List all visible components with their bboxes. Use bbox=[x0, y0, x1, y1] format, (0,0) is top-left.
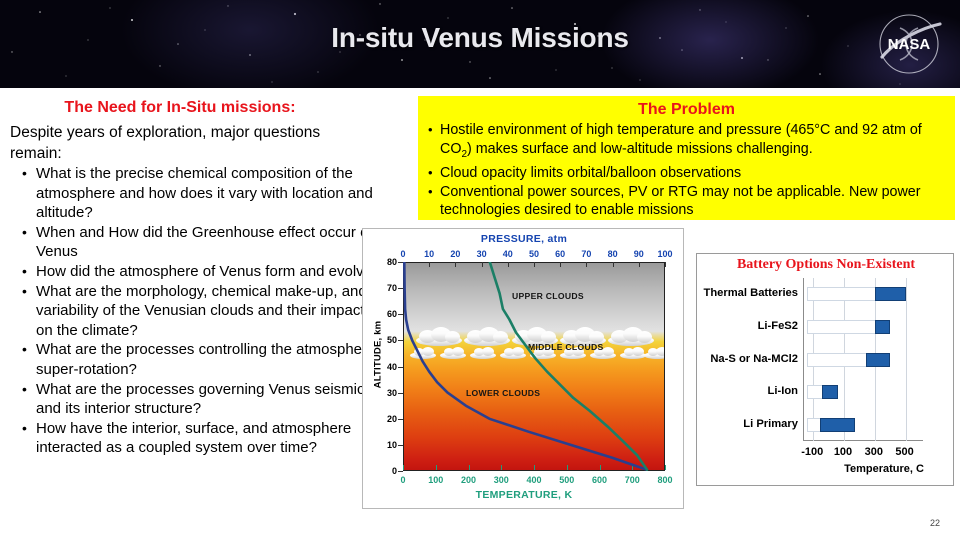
battery-category-label: Thermal Batteries bbox=[703, 287, 798, 299]
battery-chart-title: Battery Options Non-Existent bbox=[697, 257, 955, 273]
pressure-tick-label: 50 bbox=[524, 249, 544, 259]
pressure-tick-label: 40 bbox=[498, 249, 518, 259]
pressure-tick-label: 10 bbox=[419, 249, 439, 259]
pressure-tick-label: 70 bbox=[576, 249, 596, 259]
battery-bar bbox=[875, 320, 890, 334]
battery-category-label: Li-FeS2 bbox=[758, 320, 798, 332]
battery-options-chart: Battery Options Non-Existent Thermal Bat… bbox=[696, 253, 954, 486]
problem-bullet-item: Cloud opacity limits orbital/balloon obs… bbox=[440, 164, 949, 183]
problem-callout-box: The Problem Hostile environment of high … bbox=[418, 96, 955, 220]
need-bullet-item: When and How did the Greenhouse effect o… bbox=[36, 223, 384, 262]
need-bullet-item: What is the precise chemical composition… bbox=[36, 164, 384, 223]
need-bullet-item: How did the atmosphere of Venus form and… bbox=[36, 262, 384, 282]
temperature-tick-label: 0 bbox=[391, 475, 415, 485]
problem-heading: The Problem bbox=[418, 96, 955, 119]
pressure-tick-label: 100 bbox=[655, 249, 675, 259]
page-number: 22 bbox=[930, 518, 940, 528]
altitude-tick-label: 20 bbox=[377, 414, 397, 424]
need-bullet-item: How have the interior, surface, and atmo… bbox=[36, 419, 384, 458]
temperature-tick-label: 100 bbox=[424, 475, 448, 485]
pressure-axis-title: PRESSURE, atm bbox=[363, 233, 685, 245]
battery-category-label: Na-S or Na-MCl2 bbox=[710, 353, 798, 365]
pressure-tick-label: 20 bbox=[445, 249, 465, 259]
battery-bar bbox=[875, 287, 906, 301]
battery-tick-label: 500 bbox=[885, 446, 925, 458]
need-bullet-item: What are the morphology, chemical make-u… bbox=[36, 282, 384, 341]
nasa-logo-icon: NASA bbox=[870, 10, 948, 78]
problem-bullet-item: Hostile environment of high temperature … bbox=[440, 121, 949, 164]
battery-category-label: Li-Ion bbox=[768, 385, 798, 397]
altitude-tick-label: 60 bbox=[377, 309, 397, 319]
altitude-tick-label: 50 bbox=[377, 335, 397, 345]
altitude-tick-label: 70 bbox=[377, 283, 397, 293]
pressure-tick-label: 60 bbox=[550, 249, 570, 259]
page-title: In-situ Venus Missions bbox=[0, 22, 960, 54]
temperature-tick-label: 200 bbox=[457, 475, 481, 485]
temperature-tick-label: 800 bbox=[653, 475, 677, 485]
battery-bar bbox=[822, 385, 837, 399]
profile-curves bbox=[403, 262, 665, 471]
altitude-tick-label: 40 bbox=[377, 362, 397, 372]
problem-bullet-list: Hostile environment of high temperature … bbox=[418, 121, 955, 220]
need-section-heading: The Need for In-Situ missions: bbox=[10, 99, 350, 117]
altitude-tick-label: 10 bbox=[377, 440, 397, 450]
pressure-tick-label: 30 bbox=[472, 249, 492, 259]
battery-plot-area: Thermal BatteriesLi-FeS2Na-S or Na-MCl2L… bbox=[803, 278, 923, 441]
battery-bar bbox=[820, 418, 855, 432]
need-bullet-list: What is the precise chemical composition… bbox=[14, 164, 384, 458]
slide-header: In-situ Venus Missions NASA bbox=[0, 0, 960, 88]
need-bullet-item: What are the processes controlling the a… bbox=[36, 340, 384, 379]
altitude-tick-label: 30 bbox=[377, 388, 397, 398]
altitude-tick-label: 80 bbox=[377, 257, 397, 267]
temperature-tick-label: 400 bbox=[522, 475, 546, 485]
temperature-tick-label: 300 bbox=[489, 475, 513, 485]
nasa-wordmark: NASA bbox=[888, 36, 931, 53]
pressure-curve bbox=[404, 262, 646, 470]
temperature-tick-label: 500 bbox=[555, 475, 579, 485]
need-bullet-item: What are the processes governing Venus s… bbox=[36, 380, 384, 419]
temperature-axis-title: TEMPERATURE, K bbox=[363, 489, 685, 501]
temperature-curve bbox=[490, 262, 647, 470]
battery-category-label: Li Primary bbox=[743, 418, 798, 430]
problem-bullet-item: Conventional power sources, PV or RTG ma… bbox=[440, 183, 949, 220]
battery-gridline bbox=[906, 278, 907, 441]
battery-bar bbox=[866, 353, 891, 367]
need-section-intro: Despite years of exploration, major ques… bbox=[10, 122, 360, 164]
temperature-tick-label: 700 bbox=[620, 475, 644, 485]
temperature-tick-label: 600 bbox=[588, 475, 612, 485]
pressure-tick-label: 80 bbox=[603, 249, 623, 259]
pressure-tick-label: 90 bbox=[629, 249, 649, 259]
venus-atmosphere-chart: PRESSURE, atm TEMPERATURE, K ALTITUDE, k… bbox=[362, 228, 684, 509]
battery-x-axis-title: Temperature, C bbox=[819, 463, 949, 475]
altitude-tick-label: 0 bbox=[377, 466, 397, 476]
